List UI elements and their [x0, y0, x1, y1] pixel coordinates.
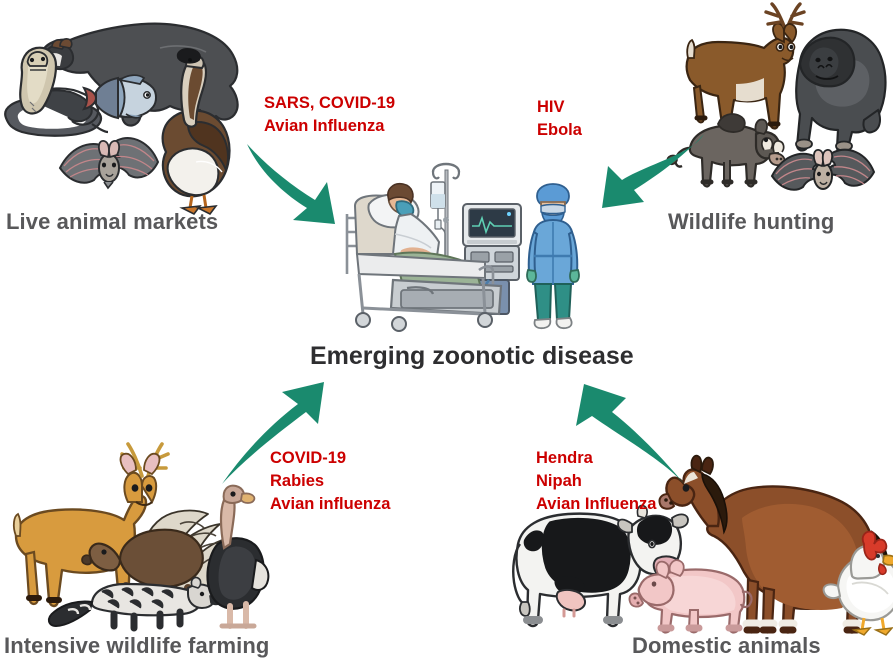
disease-item: Avian influenza [270, 493, 390, 516]
source-label-live-animal-markets: Live animal markets [6, 209, 218, 235]
deer-icon [687, 4, 804, 129]
civet-icon [49, 577, 222, 628]
source-label-domestic-animals: Domestic animals [632, 633, 821, 659]
healthcare-worker-in-ppe-icon [527, 184, 579, 328]
disease-list-wildlife-hunting: HIV Ebola [537, 96, 582, 142]
zoonotic-disease-diagram: Live animal markets SARS, COVID-19 Avian… [0, 0, 893, 667]
disease-item: Ebola [537, 119, 582, 142]
arrow-from-intensive-wildlife-farming-icon [218, 378, 338, 488]
gorilla-icon [796, 30, 885, 153]
live-animal-markets-illustration [0, 0, 250, 200]
disease-item: Avian Influenza [536, 493, 656, 516]
bat-icon [772, 150, 874, 190]
bat-icon [60, 138, 158, 188]
source-label-intensive-wildlife-farming: Intensive wildlife farming [4, 633, 269, 659]
disease-item: HIV [537, 96, 582, 119]
disease-item: SARS, COVID-19 [264, 92, 395, 115]
arrow-from-wildlife-hunting-icon [598, 130, 708, 230]
center-title-emerging-zoonotic-disease: Emerging zoonotic disease [310, 342, 634, 371]
disease-list-live-animal-markets: SARS, COVID-19 Avian Influenza [264, 92, 395, 138]
disease-item: Avian Influenza [264, 115, 395, 138]
hospital-scene-illustration [333, 158, 595, 336]
arrow-from-domestic-animals-icon [570, 378, 690, 488]
